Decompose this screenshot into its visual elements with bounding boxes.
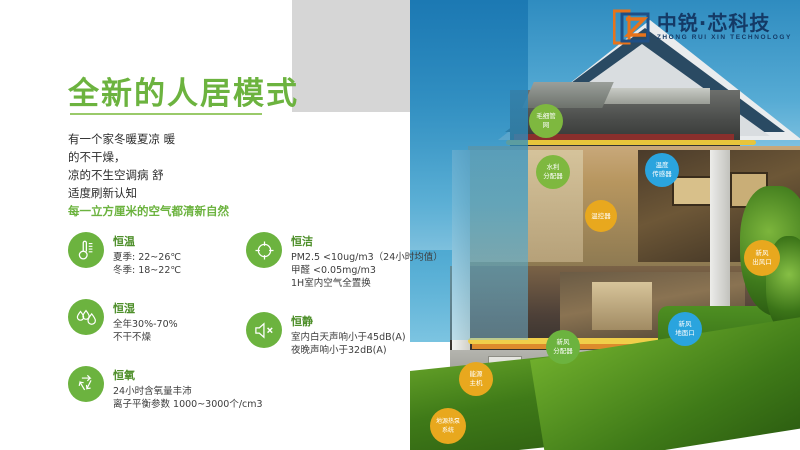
callout-line-2: 出风口 bbox=[752, 258, 772, 267]
callout-ground-source-heatpump: 地源热泵 系统 bbox=[430, 408, 466, 444]
feature-column-right: 恒洁 PM2.5 <10ug/m3（24小时均值） 甲醛 <0.05mg/m3 … bbox=[246, 232, 486, 379]
oxygen-recycle-icon bbox=[68, 366, 104, 402]
callout-fresh-air-distributor: 新风 分配器 bbox=[546, 330, 580, 364]
feature-title: 恒洁 bbox=[291, 233, 443, 249]
callout-line-2: 分配器 bbox=[543, 172, 563, 181]
feature-title: 恒氧 bbox=[113, 367, 263, 383]
feature-item-constant-temperature: 恒温 夏季: 22~26℃ 冬季: 18~22℃ bbox=[68, 232, 243, 277]
callout-line-1: 地源热泵 bbox=[436, 417, 460, 426]
feature-line: 冬季: 18~22℃ bbox=[113, 264, 181, 277]
crosshair-clean-icon bbox=[246, 232, 282, 268]
thermometer-icon bbox=[68, 232, 104, 268]
feature-body: 恒洁 PM2.5 <10ug/m3（24小时均值） 甲醛 <0.05mg/m3 … bbox=[291, 232, 443, 290]
logo-chinese-name: 中锐·芯科技 bbox=[657, 13, 792, 33]
feature-body: 恒静 室内白天声响小于45dB(A) 夜晚声响小于32dB(A) bbox=[291, 312, 406, 357]
callout-fresh-air-floor-vent: 新风 地面口 bbox=[668, 312, 702, 346]
callout-energy-host: 能源 主机 bbox=[459, 362, 493, 396]
feature-item-constant-humidity: 恒湿 全年30%-70% 不干不燥 bbox=[68, 299, 243, 344]
feature-item-constant-clean: 恒洁 PM2.5 <10ug/m3（24小时均值） 甲醛 <0.05mg/m3 … bbox=[246, 232, 486, 290]
feature-line: 甲醛 <0.05mg/m3 bbox=[291, 264, 443, 277]
feature-line: 24小时含氧量丰沛 bbox=[113, 385, 263, 398]
callout-line-2: 地面口 bbox=[675, 329, 695, 338]
callout-line-2: 传感器 bbox=[652, 170, 672, 179]
callout-line-1: 能源 bbox=[470, 370, 483, 379]
wall-right bbox=[710, 150, 730, 310]
lead-paragraph: 有一个家冬暖夏凉 暖 的不干燥， 凉的不生空调病 舒 适度刷新认知 每一立方厘米… bbox=[68, 130, 229, 220]
lead-line-1: 有一个家冬暖夏凉 暖 bbox=[68, 130, 229, 148]
background-band-gray bbox=[292, 0, 410, 112]
callout-temp-sensor: 温度 传感器 bbox=[645, 153, 679, 187]
callout-line-1: 新风 bbox=[679, 320, 692, 329]
water-drops-icon bbox=[68, 299, 104, 335]
feature-body: 恒湿 全年30%-70% 不干不燥 bbox=[113, 299, 178, 344]
feature-line: 夏季: 22~26℃ bbox=[113, 251, 181, 264]
z-monogram-icon bbox=[613, 8, 651, 46]
living-room-light-area bbox=[592, 282, 652, 330]
feature-item-constant-quiet: 恒静 室内白天声响小于45dB(A) 夜晚声响小于32dB(A) bbox=[246, 312, 486, 357]
feature-line: 离子平衡参数 1000~3000个/cm3 bbox=[113, 398, 263, 411]
callout-line-1: 温度 bbox=[656, 161, 669, 170]
skylight bbox=[522, 82, 614, 108]
page-title: 全新的人居模式 bbox=[68, 68, 299, 113]
callout-line-2: 分配器 bbox=[553, 347, 573, 356]
lead-line-3: 凉的不生空调病 舒 bbox=[68, 166, 229, 184]
feature-title: 恒静 bbox=[291, 313, 406, 329]
slide-canvas: 中锐·芯科技 ZHONG RUI XIN TECHNOLOGY 全新的人居模式 … bbox=[0, 0, 800, 450]
callout-line-1: 水利 bbox=[547, 163, 560, 172]
logo-english-name: ZHONG RUI XIN TECHNOLOGY bbox=[657, 35, 792, 42]
pipe-upper bbox=[506, 140, 756, 145]
callout-line-2: 网 bbox=[543, 121, 550, 130]
callout-fresh-air-outlet: 新风 出风口 bbox=[744, 240, 780, 276]
feature-title: 恒温 bbox=[113, 233, 181, 249]
callout-capillary-net: 毛细管 网 bbox=[529, 104, 563, 138]
feature-line: 全年30%-70% bbox=[113, 318, 178, 331]
feature-line: 1H室内空气全置换 bbox=[291, 277, 443, 290]
callout-line-1: 新风 bbox=[557, 338, 570, 347]
feature-line: PM2.5 <10ug/m3（24小时均值） bbox=[291, 251, 443, 264]
callout-line-1: 新风 bbox=[756, 249, 769, 258]
feature-line: 夜晚声响小于32dB(A) bbox=[291, 344, 406, 357]
callout-thermostat: 温控器 bbox=[585, 200, 617, 232]
lead-highlight: 每一立方厘米的空气都清新自然 bbox=[68, 202, 229, 220]
callout-water-distributor: 水利 分配器 bbox=[536, 155, 570, 189]
feature-line: 室内白天声响小于45dB(A) bbox=[291, 331, 406, 344]
company-logo: 中锐·芯科技 ZHONG RUI XIN TECHNOLOGY bbox=[613, 8, 792, 46]
lead-line-2: 的不干燥， bbox=[68, 148, 229, 166]
feature-line: 不干不燥 bbox=[113, 331, 178, 344]
title-divider bbox=[70, 113, 262, 115]
feature-body: 恒温 夏季: 22~26℃ 冬季: 18~22℃ bbox=[113, 232, 181, 277]
feature-column-left: 恒温 夏季: 22~26℃ 冬季: 18~22℃ 恒湿 全年30%-70% bbox=[68, 232, 243, 433]
callout-line-2: 系统 bbox=[442, 426, 454, 435]
callout-line-1: 毛细管 bbox=[536, 112, 556, 121]
mute-speaker-icon bbox=[246, 312, 282, 348]
callout-line-1: 温控器 bbox=[591, 212, 611, 221]
feature-item-constant-oxygen: 恒氧 24小时含氧量丰沛 离子平衡参数 1000~3000个/cm3 bbox=[68, 366, 243, 411]
callout-line-2: 主机 bbox=[470, 379, 483, 388]
lead-line-4: 适度刷新认知 bbox=[68, 184, 229, 202]
feature-body: 恒氧 24小时含氧量丰沛 离子平衡参数 1000~3000个/cm3 bbox=[113, 366, 263, 411]
feature-title: 恒湿 bbox=[113, 300, 178, 316]
